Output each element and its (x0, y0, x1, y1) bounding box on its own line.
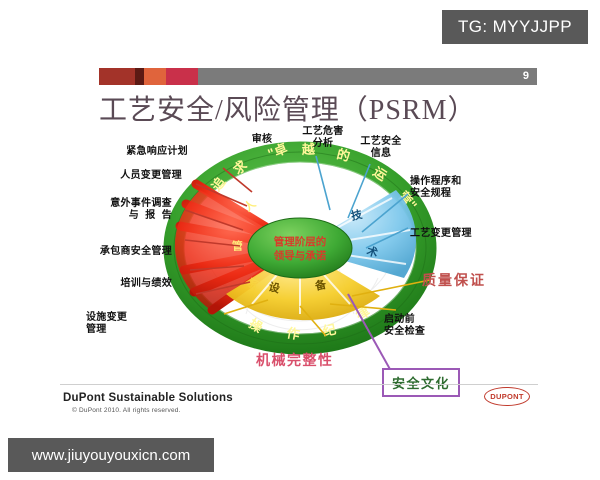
callout-quality-assurance: 质量保证 (422, 272, 532, 289)
callout-operating-procedures: 操作程序和 安全规程 (410, 176, 506, 200)
callout-process-hazard-analysis: 工艺危害 分析 (290, 126, 356, 150)
accent-bar-segment-2 (135, 68, 144, 85)
slide-accent-bar: 9 (99, 68, 537, 85)
callout-audit: 审核 (236, 134, 288, 146)
callout-facility-change-management: 设施变更 管理 (86, 312, 196, 336)
callout-training-performance: 培训与绩效 (42, 278, 172, 290)
accent-bar-segment-3 (144, 68, 166, 85)
footer-copyright: © DuPont 2010. All rights reserved. (72, 407, 181, 414)
center-hub: 管理阶层的 领导与承诺 (248, 218, 352, 278)
slide-canvas: 9 工艺安全/风险管理（PSRM） (0, 0, 600, 432)
page-number: 9 (523, 68, 529, 85)
callout-pre-startup-safety-review: 启动前 安全检查 (384, 314, 480, 338)
tg-watermark-badge: TG: MYYJJPP (442, 10, 588, 44)
accent-bar-segment-4 (166, 68, 198, 85)
callout-contractor-safety-management: 承包商安全管理 (20, 246, 172, 258)
accent-bar-segment-1 (99, 68, 135, 85)
callout-safety-culture: 安全文化 (382, 368, 460, 397)
svg-text:作: 作 (285, 325, 301, 343)
footer-brand: DuPont Sustainable Solutions (63, 392, 233, 404)
callout-process-change-management: 工艺变更管理 (410, 228, 514, 240)
hub-text-line1: 管理阶层的 (274, 235, 327, 248)
accent-bar-segment-rest (198, 68, 537, 85)
psrm-wheel-diagram: 追 求 "卓 越 的 运 营" 操 作 纪 律 (0, 118, 600, 378)
hub-text-line2: 领导与承诺 (274, 249, 327, 262)
footer-divider (60, 384, 538, 385)
callout-emergency-response: 紧急响应计划 (62, 146, 188, 158)
site-url-watermark: www.jiuyouyouxicn.com (8, 438, 214, 472)
callout-mechanical-integrity: 机械完整性 (256, 352, 376, 369)
callout-incident-investigation-report: 意外事件调查 与 报 告 (24, 198, 172, 222)
callout-personnel-change-management: 人员变更管理 (40, 170, 182, 182)
dupont-logo: DUPONT (484, 387, 530, 406)
callout-process-safety-information: 工艺安全 信息 (348, 136, 414, 160)
